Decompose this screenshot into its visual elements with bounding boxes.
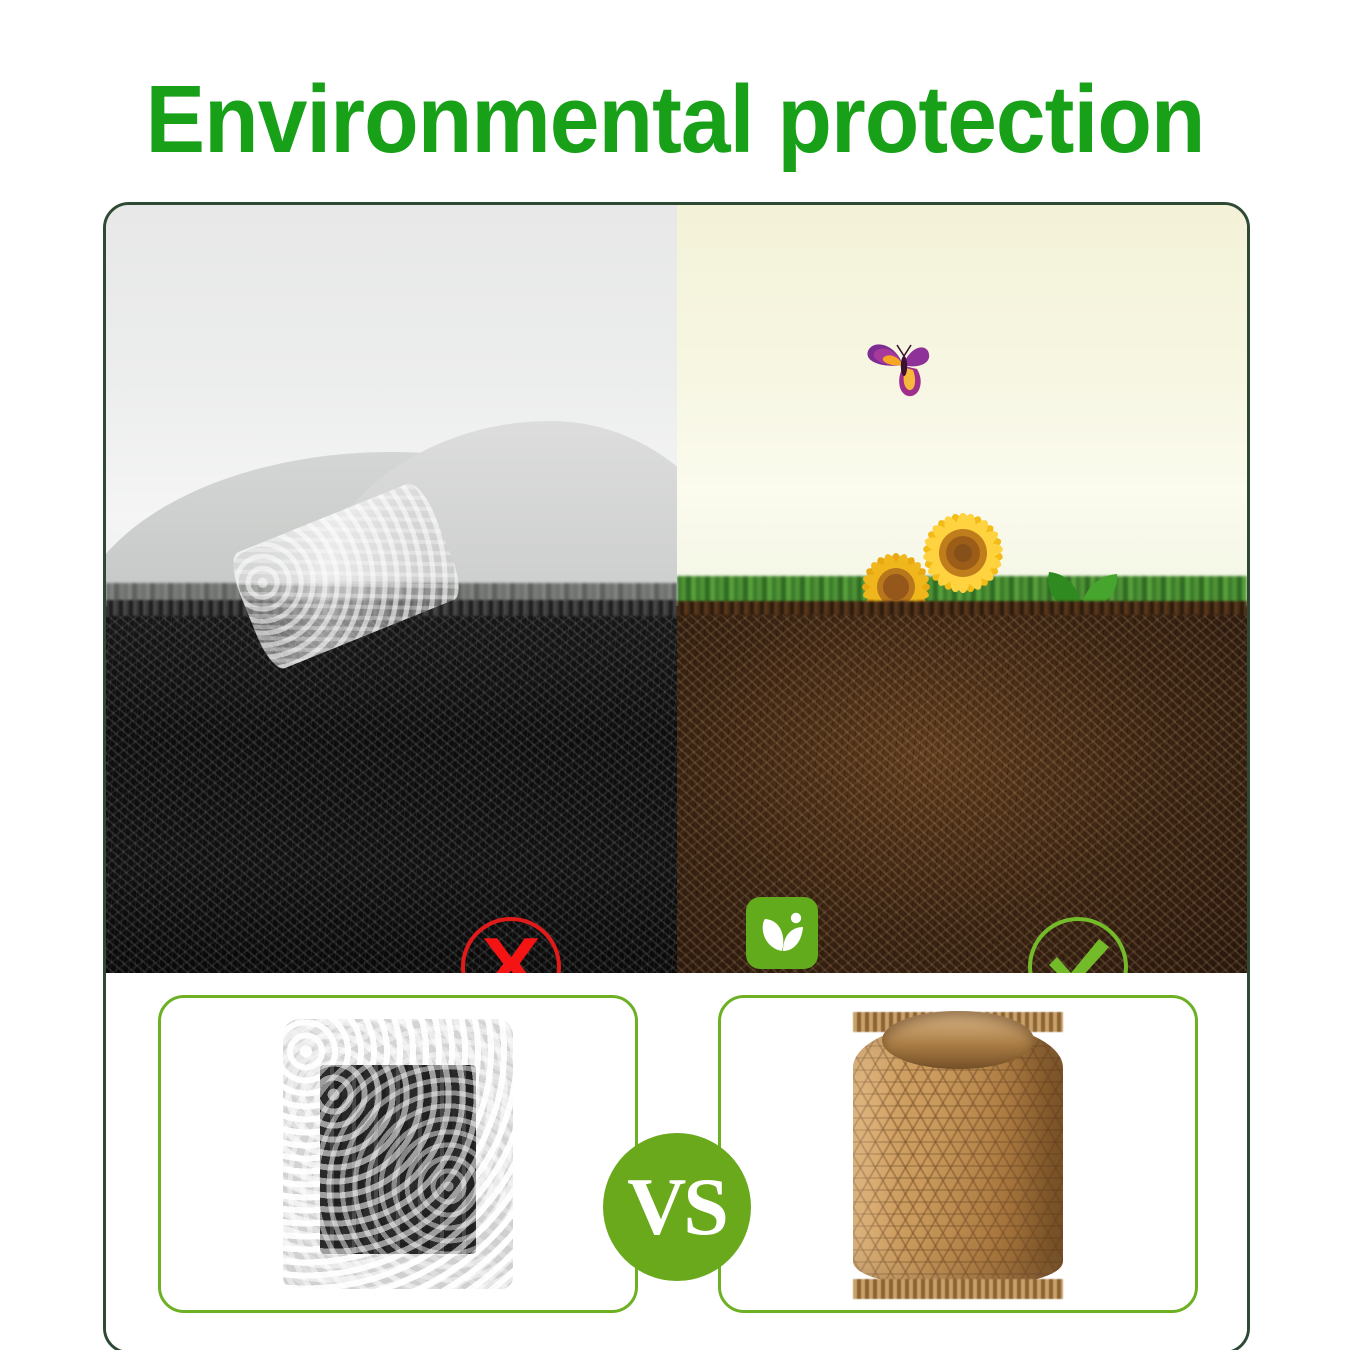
vs-badge: VS [603, 1133, 751, 1281]
plastic-bubble-wrap-package [283, 1019, 513, 1289]
page-title: Environmental protection [47, 72, 1303, 168]
butterfly-icon [859, 329, 949, 399]
scene-panel-plastic [106, 205, 677, 977]
content-card: X About 120 days [103, 202, 1250, 1350]
check-icon [1043, 933, 1113, 977]
black-soil [106, 606, 677, 977]
sprout-leaf-badge [746, 897, 818, 969]
product-box-plastic[interactable] [158, 995, 638, 1313]
paper-frill-bottom [853, 1279, 1063, 1299]
product-comparison-section: VS [106, 973, 1247, 1350]
roll-opening [882, 1011, 1033, 1069]
bubble-sheen [283, 1019, 513, 1289]
comparison-scene: X About 120 days [106, 205, 1247, 977]
vs-label: VS [627, 1166, 726, 1248]
sprout-leaf-icon [756, 907, 808, 959]
product-box-paper[interactable] [718, 995, 1198, 1313]
scene-panel-paper [677, 205, 1248, 977]
honeycomb-kraft-paper-roll [853, 1022, 1063, 1287]
cross-icon: X [481, 926, 541, 977]
infographic-page: Environmental protection [0, 0, 1350, 1350]
